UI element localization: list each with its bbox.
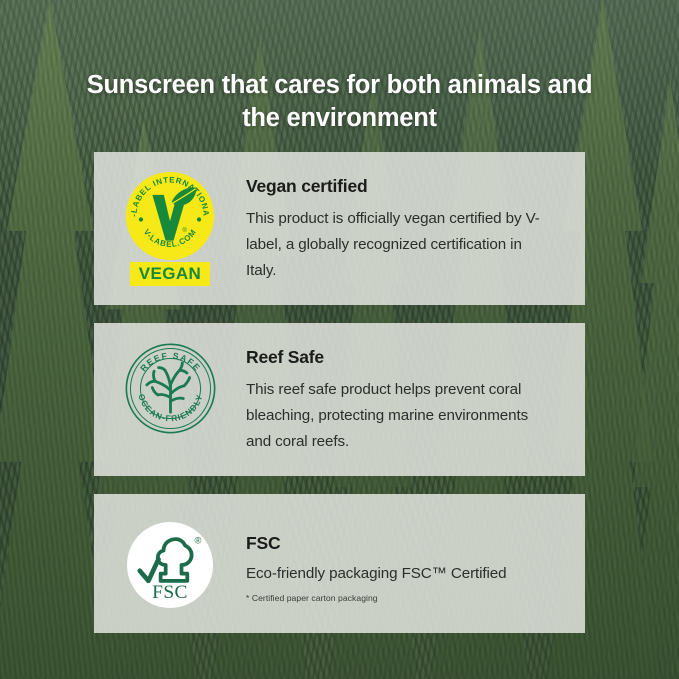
vegan-wordmark-badge: VEGAN [130,262,210,286]
v-label-vegan-badge: V-LABEL INTERNATIONAL V-LABEL.COM ® [124,172,216,286]
card-body-fsc: Eco-friendly packaging FSC™ Certified [246,563,566,585]
card-title-vegan: Vegan certified [246,175,571,197]
certification-card-reef-safe: REEF SAFE OCEAN-FRIENDLY [94,323,585,476]
badge-column: ® FSC [94,494,246,608]
card-footnote-fsc: * Certified paper carton packaging [246,592,571,605]
text-column: Reef Safe This reef safe product helps p… [246,323,585,455]
badge-column: V-LABEL INTERNATIONAL V-LABEL.COM ® [94,152,246,286]
reef-arc-top-text: REEF SAFE [138,350,203,373]
page-title: Sunscreen that cares for both animals an… [0,69,679,135]
text-column: Vegan certified This product is official… [246,152,585,284]
reef-safe-badge: REEF SAFE OCEAN-FRIENDLY [125,343,216,434]
fsc-registered-mark: ® [194,535,201,545]
card-title-fsc: FSC [246,532,571,554]
text-column: FSC Eco-friendly packaging FSC™ Certifie… [246,494,585,605]
fsc-wordmark: FSC [152,582,188,600]
card-body-vegan: This product is officially vegan certifi… [246,206,546,284]
promo-graphic: Sunscreen that cares for both animals an… [0,0,679,679]
certification-card-vegan: V-LABEL INTERNATIONAL V-LABEL.COM ® [94,152,585,305]
tree-icon [158,539,192,581]
coral-icon [146,363,189,412]
certification-card-fsc: ® FSC FSC Eco-friendly packaging FSC™ Ce… [94,494,585,633]
v-label-dot-right [197,217,201,221]
card-body-reef-safe: This reef safe product helps prevent cor… [246,377,546,455]
fsc-badge: ® FSC [127,522,213,608]
v-label-circle-icon: V-LABEL INTERNATIONAL V-LABEL.COM ® [126,172,214,260]
card-title-reef-safe: Reef Safe [246,346,571,368]
checkmark-icon [140,559,159,581]
v-label-registered-mark: ® [182,227,187,234]
badge-column: REEF SAFE OCEAN-FRIENDLY [94,323,246,434]
v-label-dot-left [139,217,143,221]
svg-text:REEF SAFE: REEF SAFE [138,350,203,373]
